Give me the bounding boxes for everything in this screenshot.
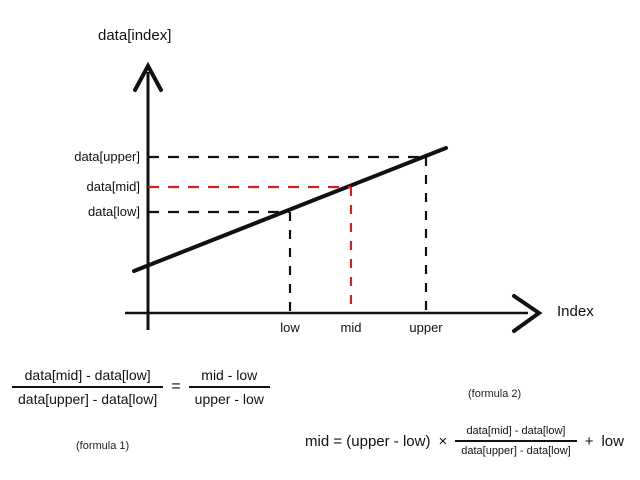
formula-1-block: data[mid] - data[low] data[upper] - data… [12,366,270,408]
formula-2-fraction: data[mid] - data[low] data[upper] - data… [455,424,576,458]
formula-2-caption: (formula 2) [468,388,521,400]
y-tick-label-data-mid: data[mid] [0,180,140,193]
interpolation-search-plot [0,0,640,480]
formula-1-caption: (formula 1) [76,440,129,452]
formula-2-equation: mid = (upper - low) × data[mid] - data[l… [305,424,624,458]
formula-1-right-fraction: mid - low upper - low [189,366,270,408]
formula-1-right-fraction-bar [189,386,270,388]
formula-1-left-fraction-bar [12,386,163,388]
formula-2-denominator: data[upper] - data[low] [455,444,576,458]
formula-1-right-denominator: upper - low [189,390,270,408]
formula-2-multiplication-sign: × [438,433,447,450]
y-tick-label-data-upper: data[upper] [0,150,140,163]
formula-1-left-denominator: data[upper] - data[low] [12,390,163,408]
formula-1-equals-sign: = [171,378,180,396]
formula-1-left-numerator: data[mid] - data[low] [12,366,163,384]
formula-2-plus-sign: + [585,433,594,450]
y-tick-label-data-low: data[low] [0,205,140,218]
diagram-canvas: data[index] Index data[upper] data[mid] … [0,0,640,480]
x-axis-title: Index [557,304,594,319]
x-tick-label-upper: upper [386,321,466,334]
formula-2-lhs: mid = (upper - low) [305,433,430,450]
x-tick-label-mid: mid [311,321,391,334]
formula-2-block: mid = (upper - low) × data[mid] - data[l… [305,424,624,458]
formula-1-equation: data[mid] - data[low] data[upper] - data… [12,366,270,408]
formula-1-left-fraction: data[mid] - data[low] data[upper] - data… [12,366,163,408]
y-axis-title: data[index] [98,28,171,43]
formula-2-numerator: data[mid] - data[low] [455,424,576,438]
formula-2-fraction-bar [455,440,576,442]
formula-1-right-numerator: mid - low [189,366,270,384]
formula-2-tail-term: low [601,433,624,450]
